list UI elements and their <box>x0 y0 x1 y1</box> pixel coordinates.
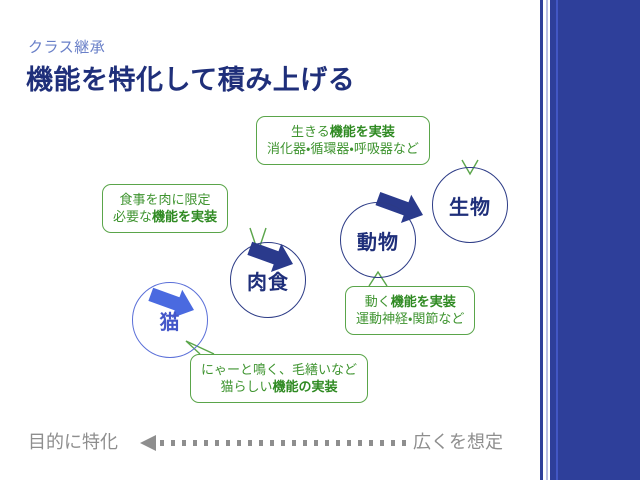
callout-doubutsu-line1: 動く機能を実装 <box>356 293 464 310</box>
slide-canvas: クラス継承 機能を特化して積み上げる <box>0 0 640 480</box>
callout-seibutsu-line1-plain: 生きる <box>291 124 330 139</box>
axis-label-right: 広くを想定 <box>413 428 503 454</box>
callout-doubutsu-line2: 運動神経・関節など <box>356 310 464 327</box>
inheritance-diagram <box>0 0 640 480</box>
axis-dotted-arrow-icon <box>140 430 410 456</box>
node-circle-neko[interactable]: 猫 <box>132 282 208 358</box>
axis-label-left: 目的に特化 <box>28 428 118 454</box>
callout-nikushoku[interactable]: 食事を肉に限定 必要な機能を実装 <box>102 184 228 233</box>
callout-neko-line2: 猫らしい機能の実装 <box>201 378 357 395</box>
diagram-svg <box>0 0 640 480</box>
callout-seibutsu-line1: 生きる機能を実装 <box>267 123 419 140</box>
callout-nikushoku-line2-bold: 機能を実装 <box>152 209 217 224</box>
callout-seibutsu-line1-bold: 機能を実装 <box>330 124 395 139</box>
callout-nikushoku-line2: 必要な機能を実装 <box>113 208 217 225</box>
node-label-doubutsu: 動物 <box>357 226 399 255</box>
callout-seibutsu-line2: 消化器・循環器・呼吸器など <box>267 140 419 157</box>
callout-neko[interactable]: にゃーと鳴く、毛繕いなど 猫らしい機能の実装 <box>190 354 368 403</box>
node-circle-doubutsu[interactable]: 動物 <box>340 202 416 278</box>
node-circle-nikushoku[interactable]: 肉食 <box>230 242 306 318</box>
callout-doubutsu-line1-plain: 動く <box>365 294 391 309</box>
callout-seibutsu[interactable]: 生きる機能を実装 消化器・循環器・呼吸器など <box>256 116 430 165</box>
node-circle-seibutsu[interactable]: 生物 <box>432 167 508 243</box>
node-label-nikushoku: 肉食 <box>247 266 289 295</box>
callout-neko-line2-bold: 機能の実装 <box>273 379 338 394</box>
callout-doubutsu-line1-bold: 機能を実装 <box>391 294 456 309</box>
callout-nikushoku-line2-plain: 必要な <box>113 209 152 224</box>
node-label-neko: 猫 <box>160 306 181 335</box>
callout-nikushoku-line1: 食事を肉に限定 <box>113 191 217 208</box>
spectrum-axis: 目的に特化 広くを想定 <box>0 424 536 464</box>
callout-neko-line1: にゃーと鳴く、毛繕いなど <box>201 361 357 378</box>
callout-neko-line2-plain: 猫らしい <box>220 379 272 394</box>
callout-doubutsu[interactable]: 動く機能を実装 運動神経・関節など <box>345 286 475 335</box>
node-label-seibutsu: 生物 <box>449 191 491 220</box>
